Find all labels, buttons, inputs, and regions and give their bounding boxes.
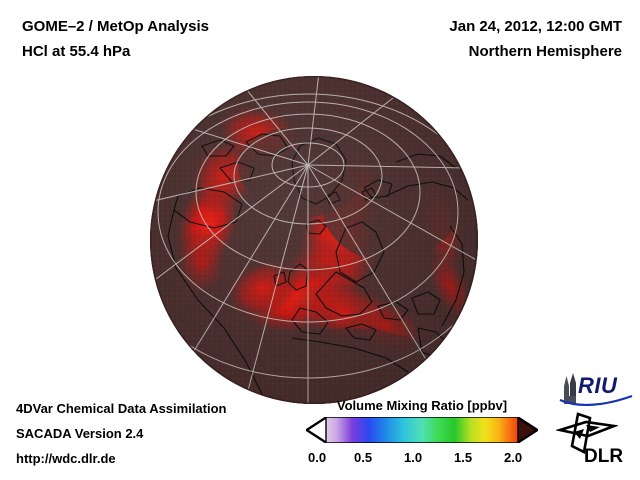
colorbar-title: Volume Mixing Ratio [ppbv] bbox=[306, 398, 538, 413]
footer-line-2: SACADA Version 2.4 bbox=[16, 426, 143, 441]
riu-logo[interactable]: RIU bbox=[556, 372, 636, 408]
dlr-logo[interactable]: DLR bbox=[556, 412, 636, 470]
globe-disk bbox=[150, 76, 478, 404]
page-title-line-2: HCl at 55.4 hPa bbox=[22, 43, 130, 60]
colorbar-tick-3: 1.5 bbox=[454, 450, 472, 465]
footer-line-1: 4DVar Chemical Data Assimilation bbox=[16, 401, 227, 416]
page-title-line-1: GOME–2 / MetOp Analysis bbox=[22, 18, 209, 35]
observation-datetime: Jan 24, 2012, 12:00 GMT bbox=[449, 18, 622, 35]
riu-logo-text: RIU bbox=[578, 373, 617, 399]
globe-map bbox=[150, 76, 478, 404]
colorbar-tick-2: 1.0 bbox=[404, 450, 422, 465]
colorbar-gradient bbox=[306, 417, 538, 443]
footer-url[interactable]: http://wdc.dlr.de bbox=[16, 451, 116, 466]
colorbar: Volume Mixing Ratio [ppbv] bbox=[306, 398, 538, 468]
graticule-overlay bbox=[150, 76, 478, 404]
dlr-logo-text: DLR bbox=[584, 446, 623, 468]
colorbar-tick-labels: 0.0 0.5 1.0 1.5 2.0 bbox=[306, 450, 538, 468]
hemisphere-label: Northern Hemisphere bbox=[469, 43, 622, 60]
colorbar-tick-0: 0.0 bbox=[308, 450, 326, 465]
colorbar-tick-1: 0.5 bbox=[354, 450, 372, 465]
colorbar-tick-4: 2.0 bbox=[504, 450, 522, 465]
